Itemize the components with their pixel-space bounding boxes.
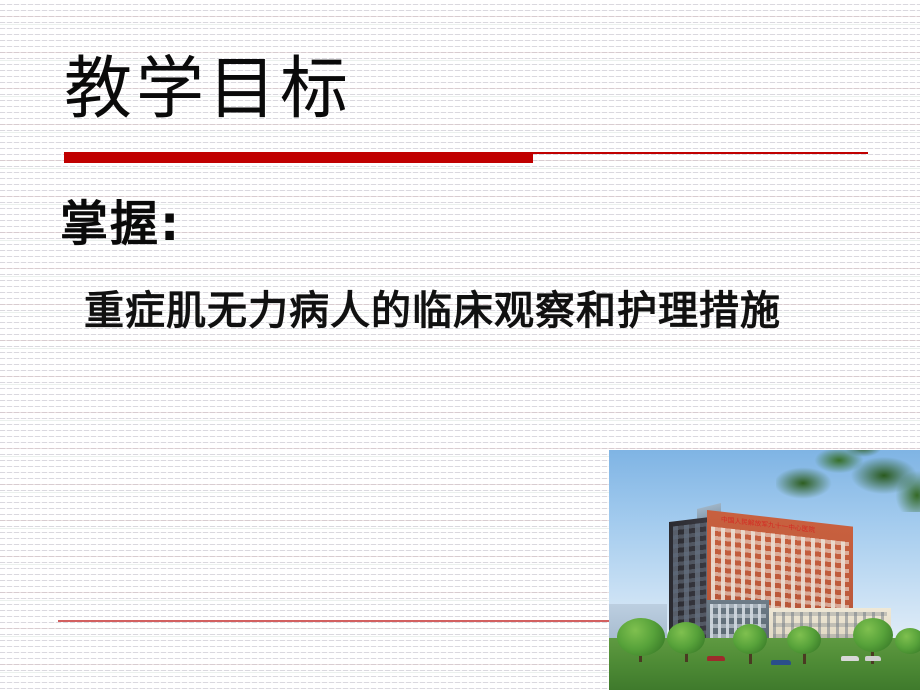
- photo-car: [771, 660, 791, 665]
- photo-tree: [667, 622, 705, 654]
- photo-tree: [787, 626, 821, 654]
- photo-overhanging-branch: [776, 450, 920, 512]
- photo-car: [841, 656, 859, 661]
- objective-heading: 掌握:: [60, 184, 181, 254]
- photo-car: [707, 656, 725, 661]
- title-underline-bar: [64, 152, 533, 163]
- photo-tree: [853, 618, 893, 652]
- objective-body-text: 重症肌无力病人的临床观察和护理措施: [84, 278, 781, 336]
- photo-tree: [895, 628, 920, 654]
- hospital-building-photo: 中国人民解放军九十一中心医院: [609, 450, 920, 690]
- slide-content: 教学目标 掌握: 重症肌无力病人的临床观察和护理措施 中国人民解放军九十一中心医…: [0, 0, 920, 690]
- presentation-slide: 教学目标 掌握: 重症肌无力病人的临床观察和护理措施 中国人民解放军九十一中心医…: [0, 0, 920, 690]
- title-underline-extension: [533, 152, 868, 154]
- slide-title: 教学目标: [64, 54, 352, 125]
- photo-car: [865, 656, 881, 661]
- photo-tree: [617, 618, 665, 656]
- photo-tree: [733, 624, 767, 654]
